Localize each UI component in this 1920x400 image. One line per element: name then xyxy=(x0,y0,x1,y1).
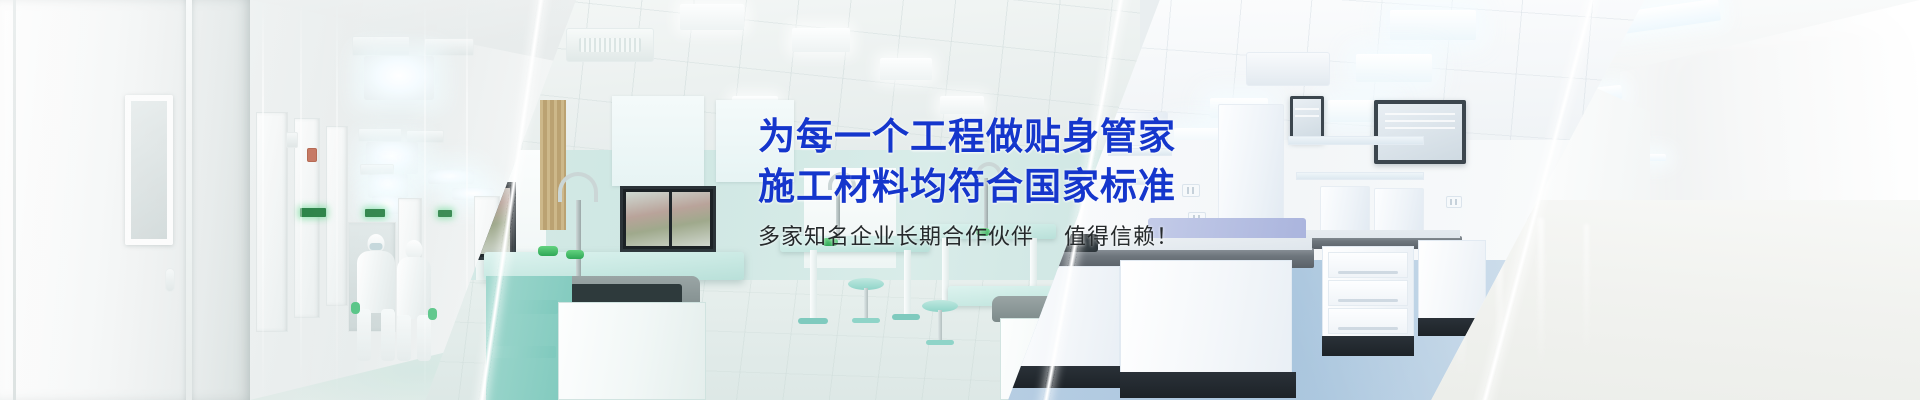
stool-post xyxy=(864,288,868,320)
ceiling-panel-light xyxy=(1356,54,1432,82)
under-shelf-cabinet xyxy=(1320,186,1370,234)
foreground-faucet-stand xyxy=(576,200,581,276)
glass-wall-cabinet xyxy=(1374,100,1466,164)
stool-post xyxy=(938,310,942,342)
bench-leg xyxy=(904,250,911,316)
bench-drawer-teal xyxy=(492,300,558,314)
cabinet-drawer xyxy=(1328,252,1408,278)
bench-drawer-teal xyxy=(492,346,556,358)
cabinet-drawer xyxy=(1328,308,1408,334)
banner-copy: 为每一个工程做贴身管家 施工材料均符合国家标准 多家知名企业长期合作伙伴 值得信… xyxy=(758,112,1179,253)
headline-line-1: 为每一个工程做贴身管家 xyxy=(758,112,1179,162)
bench-foot xyxy=(798,318,828,324)
headline-line-2: 施工材料均符合国家标准 xyxy=(758,162,1179,212)
reagent-shelf xyxy=(1288,136,1424,145)
hero-banner: 为每一个工程做贴身管家 施工材料均符合国家标准 多家知名企业长期合作伙伴 值得信… xyxy=(0,0,1920,400)
ceiling-panel-light xyxy=(1390,10,1476,40)
counter-cabinet xyxy=(1418,240,1486,324)
floor-reflection xyxy=(1538,218,1544,368)
window-glass xyxy=(626,192,710,246)
reagent-shelf xyxy=(1296,172,1424,180)
power-socket xyxy=(1182,184,1200,197)
lab-stool xyxy=(848,278,884,324)
gas-valve-handle xyxy=(538,246,558,256)
cabinet-plinth xyxy=(1322,336,1414,356)
subtitle-part-1: 多家知名企业长期合作伙伴 xyxy=(758,225,1034,250)
banner-subtitle: 多家知名企业长期合作伙伴 值得信赖！ xyxy=(758,223,1179,253)
foreground-bench-cabinet xyxy=(558,302,706,400)
window-mullion xyxy=(669,192,672,246)
subtitle-part-2: 值得信赖！ xyxy=(1064,225,1179,250)
island-plinth xyxy=(1120,372,1296,398)
bench-leg xyxy=(810,250,817,320)
ceiling-light-tile xyxy=(792,28,850,52)
lab-stool xyxy=(922,300,958,346)
lab-window xyxy=(620,186,716,252)
tall-lab-cabinet xyxy=(1218,104,1284,236)
ceiling-ac-unit xyxy=(566,28,654,62)
bench-foot xyxy=(892,314,920,320)
gas-valve-handle xyxy=(566,250,584,259)
stool-base xyxy=(852,318,880,323)
ceiling-light-tile xyxy=(880,58,932,80)
stool-base xyxy=(926,340,954,345)
window-roller-blind xyxy=(612,96,704,186)
ceiling-light-tile xyxy=(680,4,744,30)
floor-reflection xyxy=(1584,224,1589,356)
wood-wall-column xyxy=(540,100,566,230)
island-cabinet xyxy=(1120,260,1292,382)
ceiling-ac-unit xyxy=(1246,52,1330,86)
cabinet-drawer xyxy=(1328,280,1408,306)
power-socket xyxy=(1446,196,1462,208)
under-shelf-cabinet xyxy=(1374,188,1424,236)
